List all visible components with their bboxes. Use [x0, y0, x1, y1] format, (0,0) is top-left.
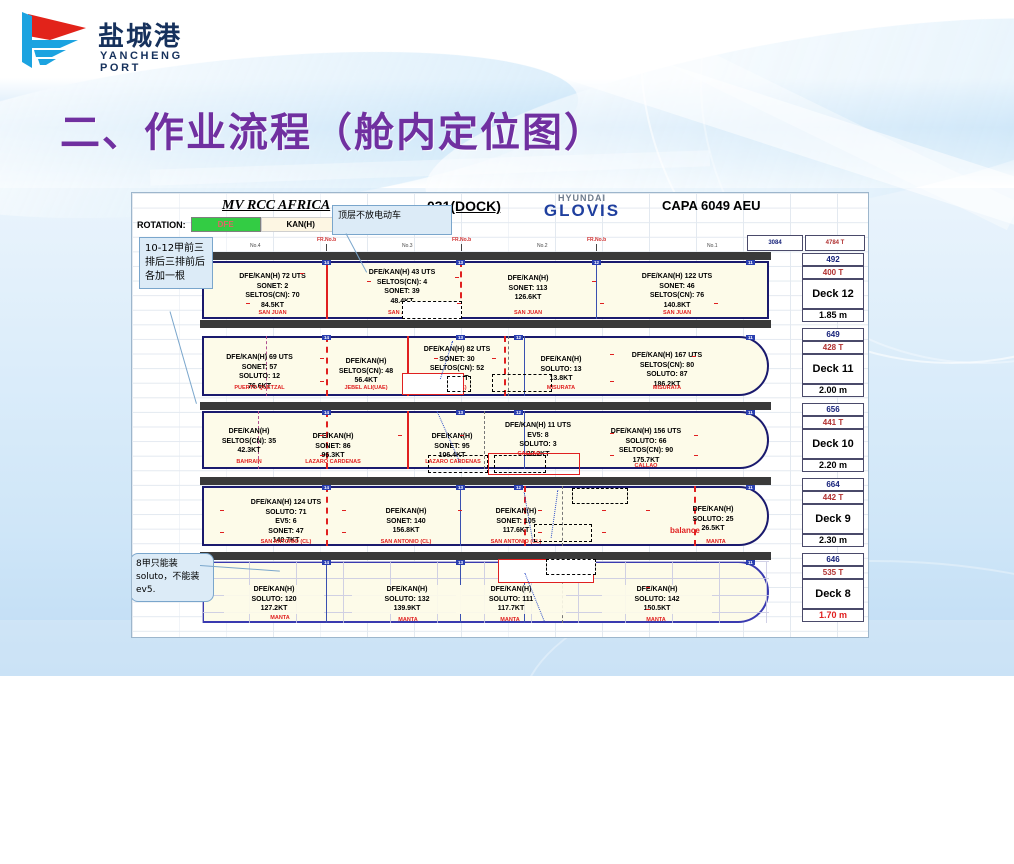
vessel-capacity: CAPA 6049 AEU: [662, 198, 761, 213]
deck-10-marker-5: [694, 435, 698, 436]
deck-info-8: 646 535 T Deck 8 1.70 m: [802, 553, 864, 619]
deck-8-top-bar: [200, 552, 771, 560]
deck-12-div-1: [326, 261, 328, 319]
deck-9-cell-2: DFE/KAN(H)SONET: 140156.8KT: [348, 507, 464, 536]
deck-11-marker-1: [320, 358, 324, 359]
deck-8-port-3: MANTA: [480, 617, 540, 623]
deck-11-weight: 428 T: [802, 341, 864, 354]
deck-12-bottom-bar: [200, 320, 771, 328]
deck-8-bayflag-1: 14: [322, 560, 331, 565]
rotation-tag-kan: KAN(H): [261, 217, 341, 232]
deck-12-marker-5: [246, 303, 250, 304]
deck-11-hatch-black-2: [447, 376, 471, 392]
deck-12-top-bar: [200, 252, 771, 260]
deck-8-cell-4: DFE/KAN(H)SOLUTO: 142150.5KT: [602, 585, 712, 614]
deck-9-bayflag-2: 13: [456, 485, 465, 490]
deck-row-12: 14 13 12 11 DFE/KAN(H) 72 UTSSONET: 2SEL…: [202, 261, 769, 319]
deck-8-port-2: MANTA: [378, 617, 438, 623]
deck-11-height: 2.00 m: [802, 384, 864, 397]
deck-info-12: 492 400 T Deck 12 1.85 m: [802, 253, 864, 319]
deck-9-balance-badge: balance: [670, 526, 700, 535]
deck-11-marker-6: [320, 381, 324, 382]
deck-12-cell-1: DFE/KAN(H) 72 UTSSONET: 2SELTOS(CN): 708…: [220, 272, 325, 310]
deck-12-cell-3: DFE/KAN(H)SONET: 113126.6KT: [468, 274, 588, 303]
frame-mark-3: FR.No.b: [587, 237, 606, 243]
deck-row-9: 14 13 12 11 DFE/KAN(H) 124 UTSSOLUTO: 71…: [202, 486, 769, 546]
deck-11-marker-5: [692, 356, 696, 357]
deck-11-port-1: PUERTO QUETZAL: [212, 385, 307, 391]
deck-10-top-bar: [200, 402, 771, 410]
deck-9-weight: 442 T: [802, 491, 864, 504]
operator-brand-main: GLOVIS: [522, 203, 642, 219]
deck-11-marker-7: [610, 381, 614, 382]
deck-row-8: 14 13 12 11 DFE/KAN(H)SOLUTO: 120127.2KT…: [202, 561, 769, 623]
callout-bottom-left-text: 8甲只能装soluto，不能装ev5.: [136, 559, 199, 595]
deck-10-bayflag-1: 14: [322, 410, 331, 415]
rotation-label: ROTATION:: [137, 217, 191, 232]
deck-11-port-5: MISURATA: [592, 385, 742, 391]
ship-name: MV RCC AFRICA: [222, 198, 330, 214]
deck-12-port-3: SAN JUAN: [468, 310, 588, 316]
deck-12-port-4: SAN JUAN: [602, 310, 752, 316]
deck-11-bayflag-2: 13: [456, 335, 465, 340]
deck-8-marker-1: [646, 587, 650, 588]
deck-11-capacity: 649: [802, 328, 864, 341]
deck-11-bayflag-4: 11: [746, 335, 755, 340]
deck-9-marker-3: [458, 510, 462, 511]
deck-11-bayflag-1: 14: [322, 335, 331, 340]
deck-10-height: 2.20 m: [802, 459, 864, 472]
deck-9-bayflag-3: 12: [514, 485, 523, 490]
deck-10-capacity: 656: [802, 403, 864, 416]
frame-mark-2: FR.No.b: [452, 237, 471, 243]
port-logo-icon: [20, 10, 90, 72]
deck-9-port-1: SAN ANTONIO (CL): [226, 539, 346, 545]
deck-8-cell-1: DFE/KAN(H)SOLUTO: 120127.2KT: [224, 585, 324, 614]
deck-12-bayflag-2: 13: [456, 260, 465, 265]
deck-info-11: 649 428 T Deck 11 2.00 m: [802, 328, 864, 394]
deck-12-marker-4: [592, 281, 596, 282]
deck-9-marker-5: [602, 510, 606, 511]
deck-9-marker-2: [342, 510, 346, 511]
deck-8-cell-2: DFE/KAN(H)SOLUTO: 132139.9KT: [352, 585, 462, 614]
deck-8-port-4: MANTA: [626, 617, 686, 623]
deck-9-hatch-2: [534, 524, 592, 542]
deck-8-bayflag-2: 13: [456, 560, 465, 565]
bay-ruler: No.4 No.3 No.2 No.1 FR.No.b FR.No.b FR.N…: [132, 237, 868, 251]
operator-logo: HYUNDAI GLOVIS: [522, 193, 642, 219]
deck-info-10: 656 441 T Deck 10 2.20 m: [802, 403, 864, 469]
logo-english-text: YANCHENG PORT: [100, 50, 200, 74]
deck-10-marker-8: [694, 455, 698, 456]
deck-11-marker-4: [610, 354, 614, 355]
bay-number-2: No.2: [537, 243, 548, 249]
deck-row-11: 14 13 12 11 DFE/KAN(H) 69 UTSSONET: 57SO…: [202, 336, 769, 396]
deck-12-weight: 400 T: [802, 266, 864, 279]
deck-10-marker-3: [460, 435, 464, 436]
callout-top-left: 10-12甲前三排后三排前后各加一根: [139, 237, 213, 289]
deck-10-weight: 441 T: [802, 416, 864, 429]
deck-11-bayflag-3: 12: [514, 335, 523, 340]
deck-12-marker-1: [300, 273, 304, 274]
deck-9-marker-7: [220, 532, 224, 533]
deck-11-cell-2: DFE/KAN(H)SELTOS(CN): 4856.4KT: [330, 357, 402, 386]
deck-9-name: Deck 9: [802, 504, 864, 534]
deck-10-bayflag-4: 11: [746, 410, 755, 415]
deck-12-marker-8: [714, 303, 718, 304]
deck-info-9: 664 442 T Deck 9 2.30 m: [802, 478, 864, 544]
deck-12-marker-7: [600, 303, 604, 304]
deck-12-bayflag-4: 11: [746, 260, 755, 265]
deck-8-hatch-black: [546, 559, 596, 575]
deck-9-bayflag-1: 14: [322, 485, 331, 490]
deck-10-marker-4: [610, 433, 614, 434]
deck-12-cell-4: DFE/KAN(H) 122 UTSSONET: 46SELTOS(CN): 7…: [602, 272, 752, 310]
deck-10-name: Deck 10: [802, 429, 864, 459]
deck-12-div-3: [596, 261, 597, 319]
bay-number-3: No.3: [402, 243, 413, 249]
deck-9-hatch-1: [572, 488, 628, 504]
deck-8-height: 1.70 m: [802, 609, 864, 622]
deck-10-marker-6: [320, 455, 324, 456]
deck-11-hatch-black: [492, 374, 552, 392]
rotation-legend: ROTATION: DFE KAN(H): [137, 217, 341, 232]
deck-12-marker-3: [455, 277, 459, 278]
callout-top-mid: 顶层不放电动车: [332, 205, 452, 235]
frame-tick-3: [596, 244, 597, 251]
yancheng-port-logo: 盐城港 YANCHENG PORT: [20, 10, 200, 78]
deck-10-bayflag-2: 13: [456, 410, 465, 415]
deck-12-height: 1.85 m: [802, 309, 864, 322]
stowage-plan-diagram: MV RCC AFRICA 031(DOCK) HYUNDAI GLOVIS C…: [131, 192, 869, 638]
frame-tick-2: [461, 244, 462, 251]
deck-info-column: 492 400 T Deck 12 1.85 m 649 428 T Deck …: [802, 253, 864, 619]
deck-12-hatch-1: [402, 301, 462, 319]
deck-8-capacity: 646: [802, 553, 864, 566]
deck-11-marker-2: [434, 358, 438, 359]
deck-9-marker-8: [342, 532, 346, 533]
deck-12-bayflag-1: 14: [322, 260, 331, 265]
deck-8-name: Deck 8: [802, 579, 864, 609]
deck-9-port-4: MANTA: [686, 539, 746, 545]
deck-8-marker-2: [646, 609, 650, 610]
deck-12-port-1: SAN JUAN: [220, 310, 325, 316]
deck-9-marker-10: [602, 532, 606, 533]
deck-11-name: Deck 11: [802, 354, 864, 384]
deck-8-port-1: MANTA: [250, 615, 310, 621]
deck-9-port-2: SAN ANTONIO (CL): [348, 539, 464, 545]
deck-8-div-1: [326, 561, 327, 623]
deck-10-marker-1: [320, 435, 324, 436]
bay-number-4: No.4: [250, 243, 261, 249]
deck-8-weight: 535 T: [802, 566, 864, 579]
deck-row-10: 14 13 12 11 DFE/KAN(H)SELTOS(CN): 3542.3…: [202, 411, 769, 469]
page-title: 二、作业流程（舱内定位图）: [60, 100, 606, 158]
deck-9-marker-4: [538, 510, 542, 511]
deck-12-marker-2: [367, 281, 371, 282]
deck-10-port-5: CALLAO: [570, 463, 722, 469]
logo-chinese-text: 盐城港: [98, 16, 182, 53]
frame-tick-1: [326, 244, 327, 251]
deck-9-marker-6: [646, 510, 650, 511]
deck-10-bayflag-3: 12: [514, 410, 523, 415]
callout-top-left-text: 10-12甲前三排后三排前后各加一根: [145, 243, 205, 282]
callout-top-mid-text: 顶层不放电动车: [338, 211, 401, 221]
deck-10-port-2: LAZARO CARDENAS: [266, 459, 400, 465]
callout-bottom-left: 8甲只能装soluto，不能装ev5.: [131, 553, 214, 602]
bay-number-1: No.1: [707, 243, 718, 249]
deck-9-bayflag-4: 11: [746, 485, 755, 490]
deck-12-capacity: 492: [802, 253, 864, 266]
deck-12-marker-6: [457, 303, 461, 304]
deck-8-cell-3: DFE/KAN(H)SOLUTO: 111117.7KT: [456, 585, 566, 614]
deck-10-cell-5: DFE/KAN(H) 156 UTSSOLUTO: 66SELTOS(CN): …: [570, 427, 722, 465]
deck-10-marker-2: [398, 435, 402, 436]
deck-12-name: Deck 12: [802, 279, 864, 309]
deck-10-cell-2: DFE/KAN(H)SONET: 8696.3KT: [266, 432, 400, 461]
deck-8-bayflag-4: 11: [746, 560, 755, 565]
rotation-tag-dfe: DFE: [191, 217, 261, 232]
deck-9-top-bar: [200, 477, 771, 485]
deck-9-height: 2.30 m: [802, 534, 864, 547]
deck-11-port-2: JEBEL ALI(UAE): [328, 385, 404, 391]
deck-12-bayflag-3: 12: [592, 260, 601, 265]
deck-11-cell-5: DFE/KAN(H) 167 UTSSELTOS(CN): 80SOLUTO: …: [592, 351, 742, 389]
deck-10-marker-7: [610, 455, 614, 456]
deck-11-marker-3: [492, 358, 496, 359]
deck-9-marker-9: [538, 532, 542, 533]
frame-mark-1: FR.No.b: [317, 237, 336, 243]
deck-9-capacity: 664: [802, 478, 864, 491]
deck-10-hatch-black-2: [494, 455, 546, 473]
deck-9-marker-1: [220, 510, 224, 511]
